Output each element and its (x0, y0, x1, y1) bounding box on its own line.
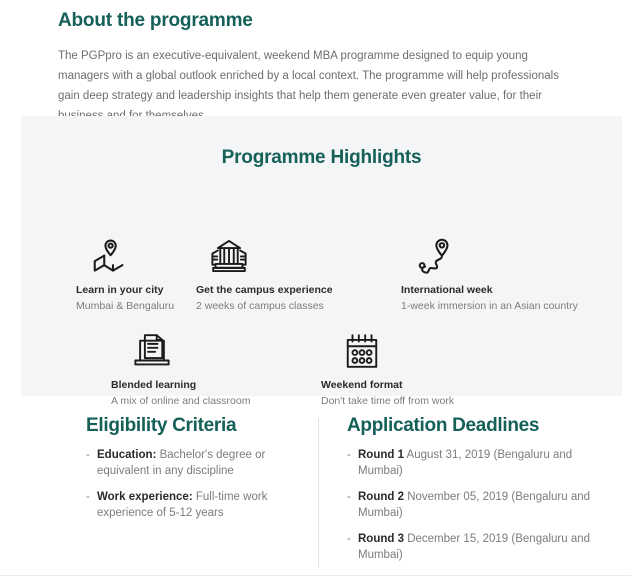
list-item: - Education: Bachelor's degree or equiva… (86, 448, 311, 479)
eligibility-list: - Education: Bachelor's degree or equiva… (86, 448, 311, 521)
bottom-separator (0, 575, 631, 576)
list-item-strong: Education: (97, 449, 156, 461)
laptop-document-icon (133, 332, 250, 370)
list-item: - Round 2 November 05, 2019 (Bengaluru a… (347, 490, 597, 521)
calendar-icon (343, 332, 454, 370)
programme-highlights-panel: Programme Highlights Learn in your city … (21, 116, 622, 396)
bullet-dash: - (347, 490, 358, 521)
route-destination-icon (415, 237, 578, 275)
highlight-label: Blended learning (111, 378, 250, 393)
list-item: - Round 1 August 31, 2019 (Bengaluru and… (347, 448, 597, 479)
highlight-item-international-week: International week 1-week immersion in a… (401, 237, 578, 314)
list-item: - Work experience: Full-time work experi… (86, 490, 311, 521)
highlight-sub: Don't take time off from work (321, 394, 454, 409)
highlight-item-weekend-format: Weekend format Don't take time off from … (321, 332, 454, 409)
bottom-section: Eligibility Criteria - Education: Bachel… (0, 414, 631, 574)
highlight-label: International week (401, 283, 578, 298)
highlight-item-campus-experience: Get the campus experience 2 weeks of cam… (196, 237, 333, 314)
list-item-strong: Round 3 (358, 533, 404, 545)
application-deadlines-column: Application Deadlines - Round 1 August 3… (347, 414, 597, 574)
page-title: About the programme (58, 8, 575, 34)
list-item: - Round 3 December 15, 2019 (Bengaluru a… (347, 532, 597, 563)
highlight-label: Weekend format (321, 378, 454, 393)
highlight-sub: Mumbai & Bengaluru (76, 299, 174, 314)
highlight-sub: A mix of online and classroom (111, 394, 250, 409)
eligibility-title: Eligibility Criteria (86, 414, 311, 438)
highlights-title: Programme Highlights (21, 147, 622, 169)
list-item-text: Work experience: Full-time work experien… (97, 490, 311, 521)
highlight-label: Learn in your city (76, 283, 174, 298)
campus-building-icon (210, 237, 333, 275)
highlight-item-learn-in-your-city: Learn in your city Mumbai & Bengaluru (76, 237, 174, 314)
deadlines-list: - Round 1 August 31, 2019 (Bengaluru and… (347, 448, 597, 563)
eligibility-criteria-column: Eligibility Criteria - Education: Bachel… (86, 414, 311, 532)
about-body-text: The PGPpro is an executive-equivalent, w… (58, 46, 575, 126)
bullet-dash: - (347, 448, 358, 479)
list-item-strong: Round 1 (358, 449, 404, 461)
bullet-dash: - (347, 532, 358, 563)
list-item-text: Round 1 August 31, 2019 (Bengaluru and M… (358, 448, 597, 479)
bullet-dash: - (86, 448, 97, 479)
bullet-dash: - (86, 490, 97, 521)
deadlines-title: Application Deadlines (347, 414, 597, 438)
list-item-text: Round 2 November 05, 2019 (Bengaluru and… (358, 490, 597, 521)
highlight-sub: 2 weeks of campus classes (196, 299, 333, 314)
about-section: About the programme The PGPpro is an exe… (0, 0, 631, 126)
list-item-strong: Work experience: (97, 491, 193, 503)
list-item-text: Round 3 December 15, 2019 (Bengaluru and… (358, 532, 597, 563)
highlight-sub: 1-week immersion in an Asian country (401, 299, 578, 314)
highlight-label: Get the campus experience (196, 283, 333, 298)
map-pin-icon (90, 237, 174, 275)
highlight-item-blended-learning: Blended learning A mix of online and cla… (111, 332, 250, 409)
list-item-strong: Round 2 (358, 491, 404, 503)
list-item-text: Education: Bachelor's degree or equivale… (97, 448, 311, 479)
